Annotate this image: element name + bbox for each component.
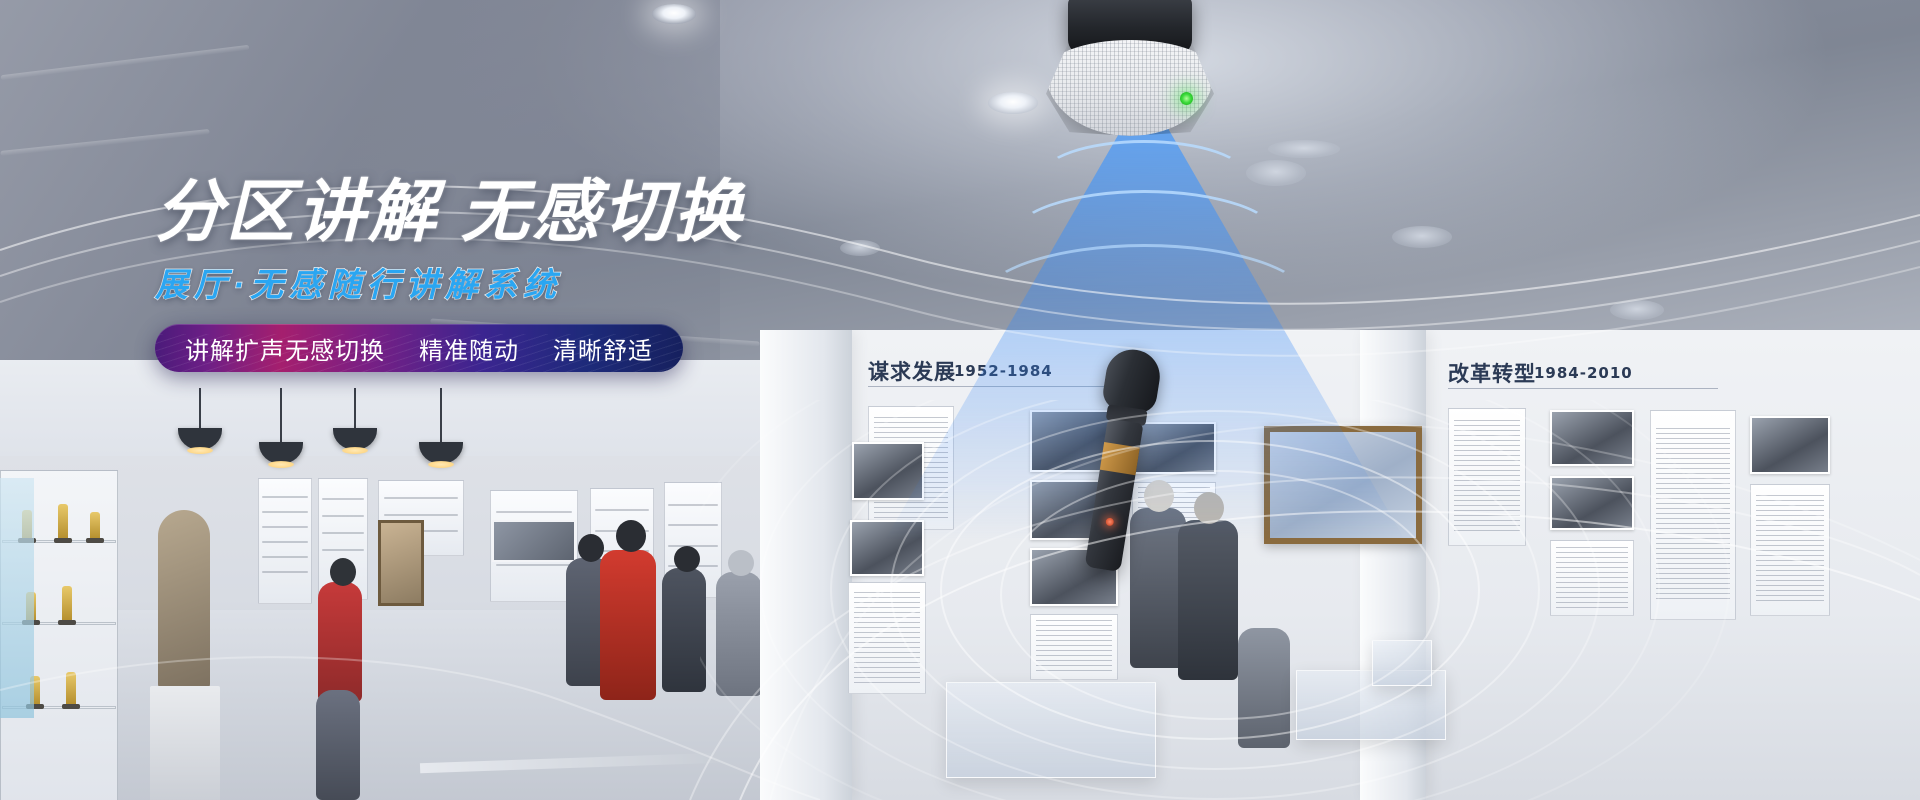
- pendant-lamp: [419, 442, 463, 464]
- pendant-wire: [440, 388, 442, 444]
- ceiling-light: [652, 4, 696, 24]
- ceiling-light: [1392, 226, 1452, 248]
- ceiling-light: [1268, 140, 1340, 158]
- pendant-wire: [280, 388, 282, 444]
- exhibit-title: 改革转型: [1448, 358, 1536, 388]
- left-gallery: [0, 360, 770, 800]
- portrait-frame: [378, 520, 424, 606]
- visitor: [318, 582, 362, 702]
- floor-rail: [420, 753, 720, 773]
- trophy: [62, 586, 72, 620]
- statue: [158, 510, 210, 690]
- info-panel: [258, 478, 312, 604]
- feature-item-3: 清晰舒适: [553, 331, 653, 366]
- sound-ripples: [700, 400, 1920, 800]
- banner-headline: 分区讲解 无感切换: [155, 178, 915, 246]
- wall-photo: [492, 520, 576, 562]
- statue-pedestal: [150, 686, 220, 800]
- banner-copy: 分区讲解 无感切换 展厅·无感随行讲解系统 讲解扩声无感切换 精准随动 清晰舒适: [155, 178, 915, 372]
- ceiling-light: [1610, 300, 1664, 320]
- speaker-grille: [1046, 40, 1214, 136]
- banner-subheadline: 展厅·无感随行讲解系统: [155, 258, 915, 306]
- ceiling-speaker: [1040, 0, 1220, 146]
- sound-arc: [978, 244, 1312, 362]
- ceiling-light: [1246, 160, 1306, 186]
- visitor: [600, 550, 656, 700]
- trophy: [90, 512, 100, 538]
- background-scene: 谋求发展 1952-1984 改革转型 1984-2010: [0, 0, 1920, 800]
- visitor-head: [578, 534, 604, 562]
- trophy: [66, 672, 76, 704]
- promo-banner: 谋求发展 1952-1984 改革转型 1984-2010: [0, 0, 1920, 800]
- visitor-head: [330, 558, 356, 586]
- visitor: [316, 690, 360, 800]
- trophy: [58, 504, 68, 538]
- glass-door: [0, 478, 34, 718]
- visitor-head: [616, 520, 646, 552]
- visitor-head: [674, 546, 700, 572]
- feature-item-2: 精准随动: [419, 331, 519, 366]
- ceiling-light: [988, 92, 1038, 114]
- gallery-ceiling: [0, 360, 770, 456]
- feature-item-1: 讲解扩声无感切换: [185, 331, 385, 366]
- exhibit-years: 1984-2010: [1534, 364, 1633, 382]
- pendant-lamp: [259, 442, 303, 464]
- pendant-wire: [199, 388, 201, 430]
- feature-pill: 讲解扩声无感切换 精准随动 清晰舒适: [155, 324, 683, 372]
- pendant-wire: [354, 388, 356, 430]
- speaker-status-led: [1180, 92, 1193, 105]
- exhibit-rule: [1448, 388, 1718, 389]
